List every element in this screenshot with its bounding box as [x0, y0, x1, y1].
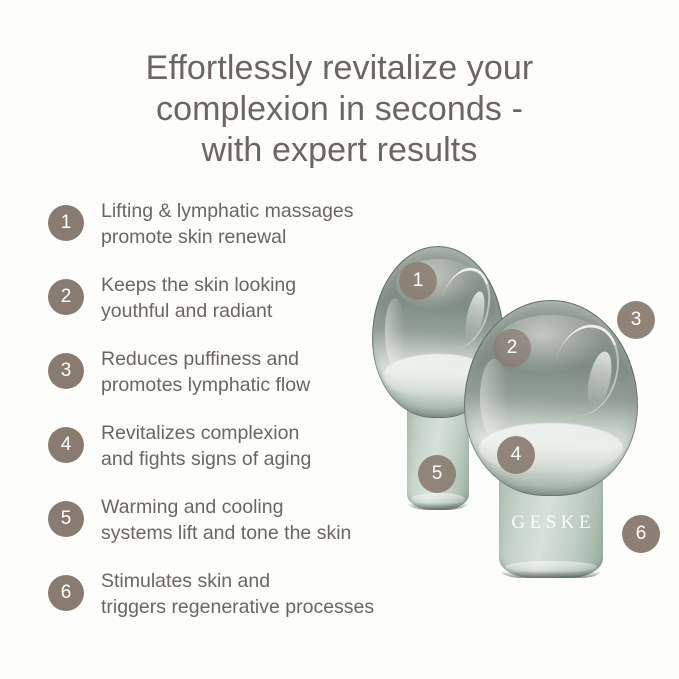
benefit-text-1-line-1: Lifting & lymphatic massages	[101, 198, 431, 224]
product-callout-badge-1: 1	[399, 262, 437, 300]
benefit-number-badge-2: 2	[48, 279, 84, 315]
benefit-number-badge-6: 6	[48, 575, 84, 611]
benefit-number-badge-3: 3	[48, 353, 84, 389]
device-front-glass-dome	[464, 300, 638, 496]
product-image: GESKE 1 2 3 4 5 6	[352, 238, 679, 578]
dome-highlight-streak	[583, 350, 615, 411]
dome-highlight-left	[385, 298, 406, 366]
benefit-number-badge-5: 5	[48, 501, 84, 537]
product-callout-badge-4: 4	[497, 436, 535, 474]
headline-line-1: Effortlessly revitalize your	[0, 48, 679, 89]
device-front: GESKE	[464, 300, 638, 578]
dome-highlight-left	[480, 359, 508, 437]
page-title: Effortlessly revitalize your complexion …	[0, 48, 679, 171]
product-callout-badge-5: 5	[418, 455, 456, 493]
list-item: 6 Stimulates skin and triggers regenerat…	[48, 568, 428, 642]
headline-line-2: complexion in seconds -	[0, 89, 679, 130]
device-front-base-shadow	[501, 571, 601, 578]
product-callout-badge-6: 6	[622, 515, 660, 553]
headline-line-3: with expert results	[0, 130, 679, 171]
dome-highlight-arc	[544, 318, 628, 423]
infographic-canvas: Effortlessly revitalize your complexion …	[0, 0, 679, 679]
benefit-number-badge-1: 1	[48, 205, 84, 241]
product-callout-badge-3: 3	[617, 301, 655, 339]
benefit-text-6-line-2: triggers regenerative processes	[101, 594, 431, 620]
product-callout-badge-2: 2	[493, 329, 531, 367]
benefit-number-badge-4: 4	[48, 427, 84, 463]
device-rear-base-shadow	[408, 503, 468, 510]
